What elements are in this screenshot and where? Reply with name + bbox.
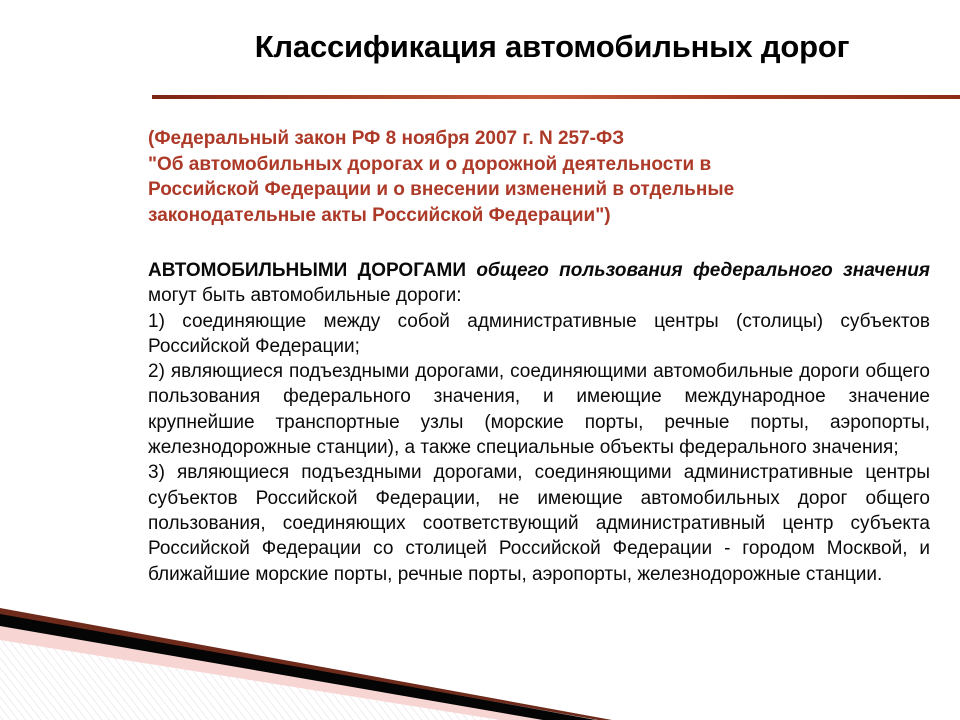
law-reference-line-1: (Федеральный закон РФ 8 ноября 2007 г. N… bbox=[148, 126, 928, 152]
law-reference-line-2: "Об автомобильных дорогах и о дорожной д… bbox=[148, 152, 928, 178]
law-reference-line-3: Российской Федерации и о внесении измене… bbox=[148, 177, 928, 203]
title-divider bbox=[152, 95, 960, 99]
body-text-block: АВТОМОБИЛЬНЫМИ ДОРОГАМИ общего пользован… bbox=[148, 258, 930, 587]
slide-canvas: Классификация автомобильных дорог (Федер… bbox=[0, 0, 960, 720]
list-item: 1) соединяющие между собой административ… bbox=[148, 309, 930, 360]
black-band bbox=[0, 612, 596, 720]
list-item: 2) являющиеся подъездными дорогами, соед… bbox=[148, 359, 930, 460]
law-reference-block: (Федеральный закон РФ 8 ноября 2007 г. N… bbox=[148, 126, 928, 228]
lead-space-1 bbox=[466, 260, 476, 281]
pink-band bbox=[0, 624, 575, 720]
law-reference-line-4: законодательные акты Российской Федераци… bbox=[148, 203, 928, 229]
lead-bold-italic-term: общего пользования федерального значения bbox=[476, 260, 930, 281]
body-lead-paragraph: АВТОМОБИЛЬНЫМИ ДОРОГАМИ общего пользован… bbox=[148, 258, 930, 309]
page-title: Классификация автомобильных дорог bbox=[152, 26, 952, 74]
list-item: 3) являющиеся подъездными дорогами, соед… bbox=[148, 460, 930, 586]
lead-rest-text: могут быть автомобильные дороги: bbox=[148, 285, 461, 306]
hatched-field bbox=[0, 614, 560, 720]
bottom-left-diagonal-ribbon bbox=[0, 600, 620, 720]
lead-bold-term: АВТОМОБИЛЬНЫМИ ДОРОГАМИ bbox=[148, 260, 466, 281]
brown-edge-line bbox=[0, 608, 612, 720]
